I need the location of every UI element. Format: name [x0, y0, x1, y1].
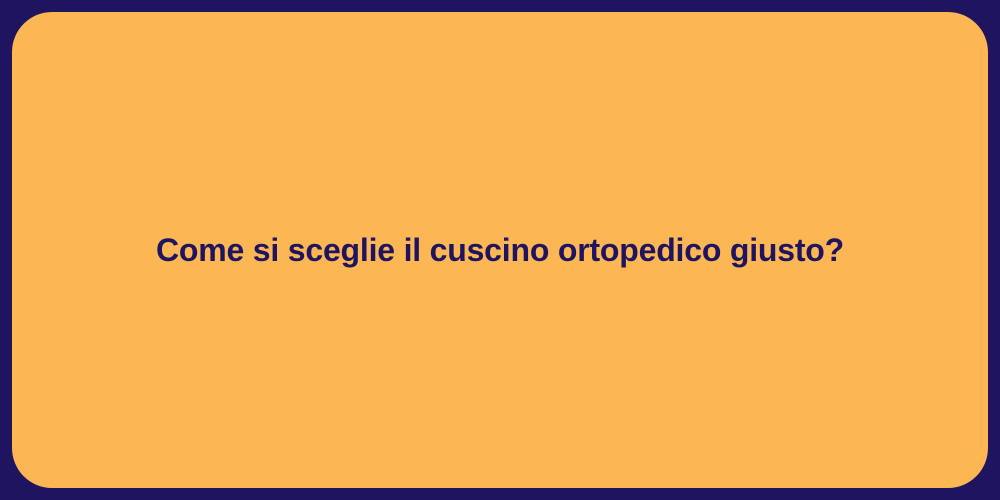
page-title: Come si sceglie il cuscino ortopedico gi… — [156, 230, 844, 270]
headline-card: Come si sceglie il cuscino ortopedico gi… — [12, 12, 988, 488]
page-canvas: Come si sceglie il cuscino ortopedico gi… — [0, 0, 1000, 500]
